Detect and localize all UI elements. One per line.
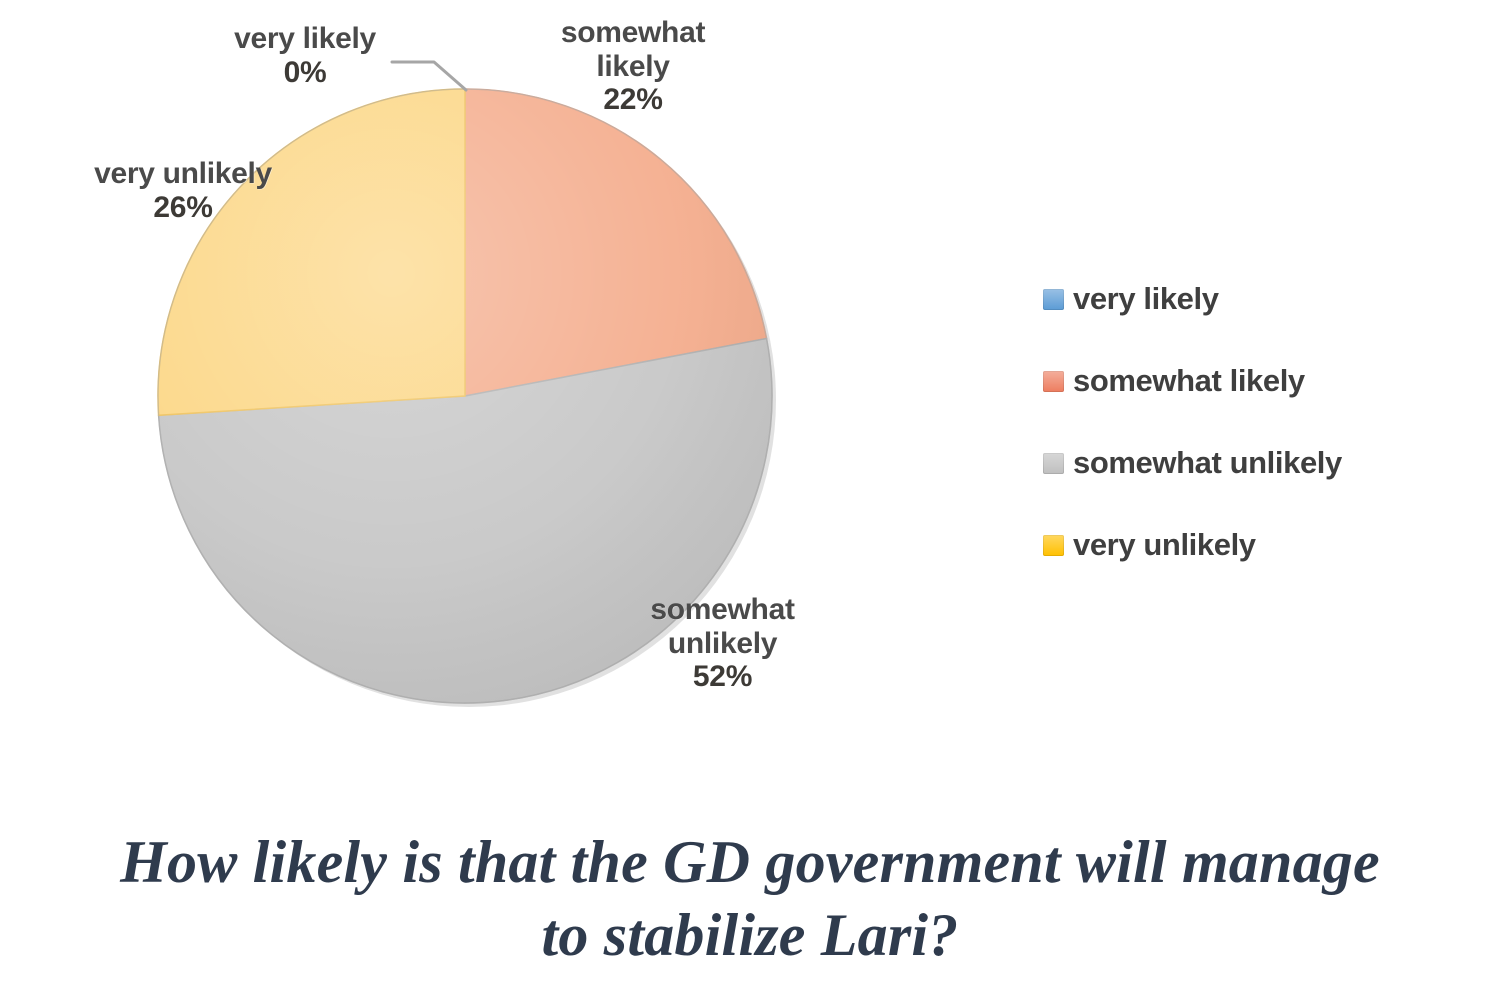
data-label-very-unlikely: very unlikely 26%	[58, 157, 308, 224]
legend-label-very-unlikely: very unlikely	[1073, 527, 1256, 563]
chart-title-line-2: to stabilize Lari?	[0, 899, 1500, 972]
data-label-somewhat-likely-text2: likely	[596, 50, 669, 83]
data-label-very-unlikely-value: 26%	[58, 191, 308, 225]
legend-item-somewhat-unlikely[interactable]: somewhat unlikely	[1043, 422, 1463, 504]
data-label-very-likely-value: 0%	[190, 56, 420, 90]
data-label-somewhat-unlikely: somewhat unlikely 52%	[600, 593, 845, 694]
data-label-very-likely: very likely 0%	[190, 22, 420, 89]
legend-swatch-somewhat-likely	[1043, 371, 1064, 392]
legend-label-very-likely: very likely	[1073, 281, 1219, 317]
chart-legend: very likely somewhat likely somewhat unl…	[1043, 258, 1463, 586]
legend-item-somewhat-likely[interactable]: somewhat likely	[1043, 340, 1463, 422]
data-label-somewhat-likely-text1: somewhat	[561, 16, 705, 49]
data-label-very-likely-text: very likely	[234, 22, 376, 55]
legend-swatch-very-likely	[1043, 289, 1064, 310]
legend-label-somewhat-likely: somewhat likely	[1073, 363, 1305, 399]
legend-swatch-very-unlikely	[1043, 535, 1064, 556]
chart-title: How likely is that the GD government wil…	[0, 826, 1500, 972]
legend-item-very-unlikely[interactable]: very unlikely	[1043, 504, 1463, 586]
legend-swatch-somewhat-unlikely	[1043, 453, 1064, 474]
chart-page: very likely 0% somewhat likely 22% very …	[0, 0, 1500, 1000]
legend-label-somewhat-unlikely: somewhat unlikely	[1073, 445, 1342, 481]
pie-chart-area: very likely 0% somewhat likely 22% very …	[0, 0, 1000, 800]
data-label-somewhat-likely-value: 22%	[528, 83, 738, 117]
data-label-somewhat-unlikely-value: 52%	[600, 660, 845, 694]
data-label-somewhat-unlikely-text1: somewhat	[650, 593, 794, 626]
pie-chart-graphic	[0, 0, 1000, 800]
pie-slice-very-unlikely[interactable]	[158, 89, 465, 415]
legend-item-very-likely[interactable]: very likely	[1043, 258, 1463, 340]
data-label-somewhat-unlikely-text2: unlikely	[668, 627, 777, 660]
data-label-somewhat-likely: somewhat likely 22%	[528, 16, 738, 117]
data-label-very-unlikely-text: very unlikely	[94, 157, 272, 190]
chart-title-line-1: How likely is that the GD government wil…	[0, 826, 1500, 899]
